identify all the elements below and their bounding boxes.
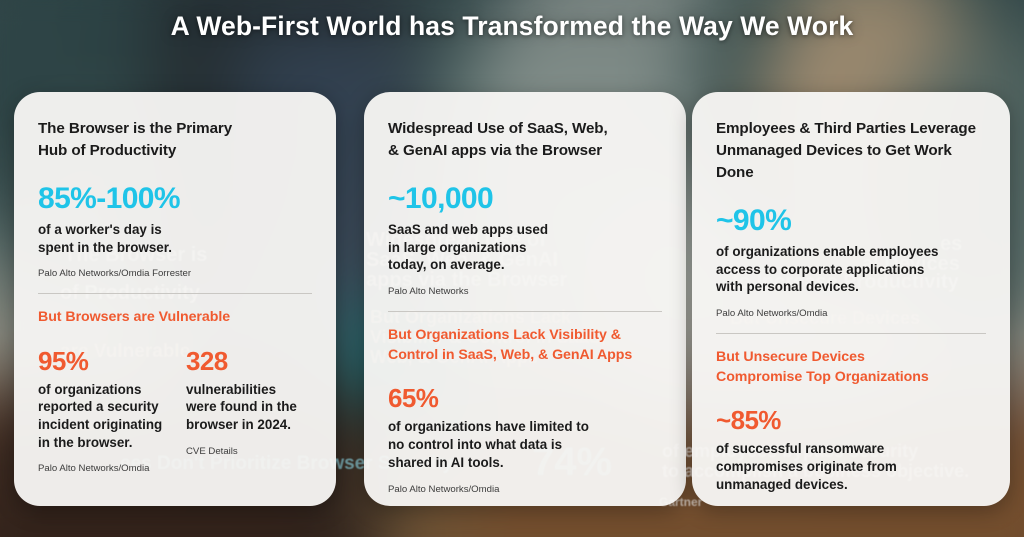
card-sub-heading: But Unsecure Devices Compromise Top Orga…	[716, 347, 986, 387]
stat-value: 65%	[388, 385, 662, 411]
card-heading: Employees & Third Parties Leverage Unman…	[716, 118, 986, 184]
card-heading: Widespread Use of SaaS, Web, & GenAI app…	[388, 118, 662, 162]
card-sub-heading: But Browsers are Vulnerable	[38, 307, 312, 327]
stat-value: 328	[186, 348, 312, 374]
stat-description: of a worker's day is spent in the browse…	[38, 221, 312, 256]
page-title: A Web-First World has Transformed the Wa…	[0, 11, 1024, 42]
stat-value: 85%-100%	[38, 184, 312, 214]
stat-description: of successful ransomware compromises ori…	[716, 440, 986, 493]
card-top-stat-block: ~90% of organizations enable employees a…	[716, 206, 986, 319]
stat-description: SaaS and web apps used in large organiza…	[388, 221, 662, 274]
stat-source: Palo Alto Networks	[388, 286, 662, 297]
stat-source: Palo Alto Networks/Omdia	[388, 484, 662, 495]
card-bottom-stat-block: ~85% of successful ransomware compromise…	[716, 407, 986, 506]
card-bottom-stat-block: 65% of organizations have limited to no …	[388, 385, 662, 494]
slide-canvas: The Browser isof Productivityare Vulnera…	[0, 0, 1024, 537]
stat-card-browser-productivity[interactable]: The Browser is the Primary Hub of Produc…	[14, 92, 336, 506]
stat-item: 328 vulnerabilities were found in the br…	[186, 348, 312, 475]
stat-item: ~85% of successful ransomware compromise…	[716, 407, 986, 506]
card-sub-heading: But Organizations Lack Visibility & Cont…	[388, 325, 662, 365]
stat-description: vulnerabilities were found in the browse…	[186, 381, 312, 434]
card-divider	[388, 311, 662, 312]
stat-value: ~85%	[716, 407, 986, 433]
stat-item: 95% of organizations reported a security…	[38, 348, 164, 475]
stat-source: Palo Alto Networks/Omdia	[716, 308, 986, 319]
stat-item: 65% of organizations have limited to no …	[388, 385, 662, 494]
stat-card-saas-web-genai[interactable]: Widespread Use of SaaS, Web, & GenAI app…	[364, 92, 686, 506]
card-divider	[38, 293, 312, 294]
card-divider	[716, 333, 986, 334]
stat-source: Palo Alto Networks/Omdia Forrester	[38, 268, 312, 279]
stat-value: ~90%	[716, 206, 986, 236]
stat-description: of organizations have limited to no cont…	[388, 418, 662, 471]
card-bottom-stat-block: 95% of organizations reported a security…	[38, 348, 312, 475]
stat-card-unmanaged-devices[interactable]: Employees & Third Parties Leverage Unman…	[692, 92, 1010, 506]
card-top-stat-block: ~10,000 SaaS and web apps used in large …	[388, 184, 662, 297]
stat-source: Palo Alto Networks/Omdia	[38, 463, 164, 474]
stat-value: 95%	[38, 348, 164, 374]
card-heading: The Browser is the Primary Hub of Produc…	[38, 118, 312, 162]
stat-description: of organizations enable employees access…	[716, 243, 986, 296]
stat-source: CVE Details	[186, 446, 312, 457]
stat-description: of organizations reported a security inc…	[38, 381, 164, 452]
stat-value: ~10,000	[388, 184, 662, 214]
card-top-stat-block: 85%-100% of a worker's day is spent in t…	[38, 184, 312, 279]
